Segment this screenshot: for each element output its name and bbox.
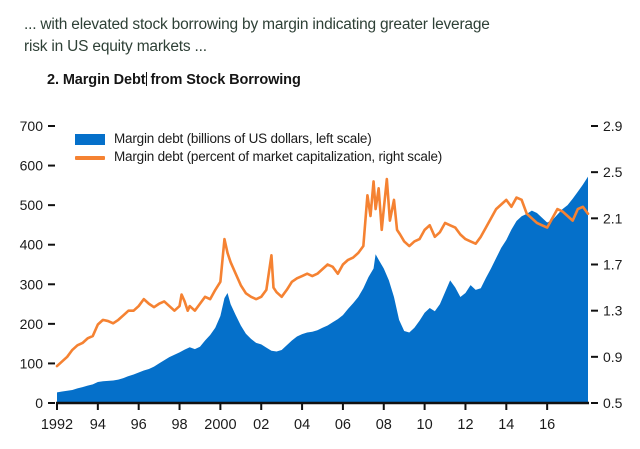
right-axis-tick-label: 2.1	[603, 210, 623, 226]
intro-text: ... with elevated stock borrowing by mar…	[24, 14, 624, 58]
right-axis-tick-label: 0.5	[603, 395, 623, 411]
x-axis-tick-label: 16	[539, 417, 555, 433]
left-axis-tick-label: 500	[20, 197, 44, 213]
left-axis-tick-label: 100	[20, 355, 44, 371]
right-axis-tick-label: 1.7	[603, 257, 623, 273]
left-axis-tick-label: 300	[20, 276, 44, 292]
legend-item-line: Margin debt (percent of market capitaliz…	[75, 148, 442, 165]
x-axis-tick-label: 2000	[204, 417, 236, 433]
x-axis-tick-label: 10	[417, 417, 433, 433]
right-axis-tick-label: 1.3	[603, 303, 623, 319]
chart-title: 2. Margin Debt from Stock Borrowing	[47, 72, 301, 88]
x-axis-tick-label: 14	[498, 417, 514, 433]
legend-line-swatch-icon	[75, 156, 105, 160]
left-axis-tick-label: 400	[20, 237, 44, 253]
legend-label-line: Margin debt (percent of market capitaliz…	[114, 148, 442, 165]
left-axis-tick-label: 700	[20, 118, 44, 134]
legend-label-bar: Margin debt (billions of US dollars, lef…	[114, 130, 372, 147]
series-area-margin-debt-billions	[57, 177, 588, 403]
left-axis-tick-label: 0	[35, 395, 43, 411]
chart-title-before-caret: 2. Margin Debt	[47, 72, 146, 88]
x-axis-tick-label: 1992	[41, 417, 73, 433]
x-axis-tick-label: 06	[335, 417, 351, 433]
chart-page: ... with elevated stock borrowing by mar…	[0, 0, 640, 449]
x-axis-tick-label: 02	[253, 417, 269, 433]
x-axis-tick-label: 98	[171, 417, 187, 433]
x-axis-tick-label: 12	[457, 417, 473, 433]
intro-line-2: risk in US equity markets ...	[24, 36, 624, 58]
right-axis-tick-label: 2.9	[603, 118, 623, 134]
left-axis-tick-label: 600	[20, 158, 44, 174]
right-axis-tick-label: 2.5	[603, 164, 623, 180]
x-axis-tick-label: 08	[376, 417, 392, 433]
legend-item-bar: Margin debt (billions of US dollars, lef…	[75, 130, 442, 147]
chart-title-after-caret: from Stock Borrowing	[147, 72, 301, 88]
chart-area: 01002003004005006007000.50.91.31.72.12.5…	[0, 110, 640, 449]
intro-line-1: ... with elevated stock borrowing by mar…	[24, 14, 624, 36]
x-axis-tick-label: 94	[90, 417, 106, 433]
legend-filled-area-swatch-icon	[75, 134, 105, 145]
right-axis-tick-label: 0.9	[603, 349, 623, 365]
chart-legend: Margin debt (billions of US dollars, lef…	[75, 130, 442, 166]
left-axis-tick-label: 200	[20, 316, 44, 332]
x-axis-tick-label: 96	[131, 417, 147, 433]
x-axis-tick-label: 04	[294, 417, 310, 433]
